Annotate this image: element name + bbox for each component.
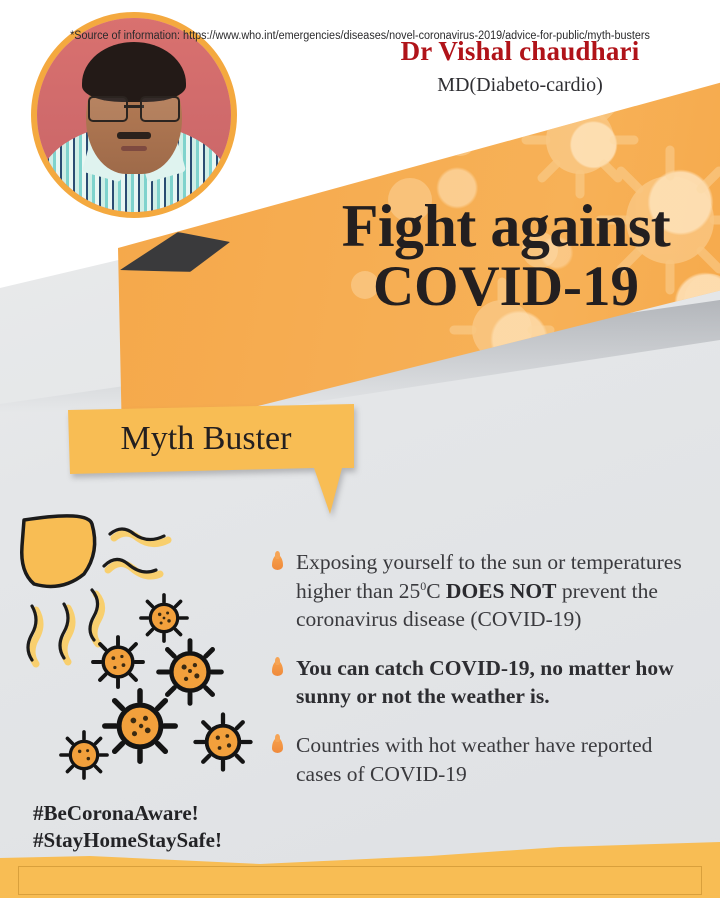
hashtag-line-1: #BeCoronaAware!	[33, 800, 222, 827]
photo-moustache	[117, 132, 151, 139]
flame-bullet-icon	[272, 738, 283, 753]
avatar	[31, 12, 237, 218]
source-attribution: *Source of information: https://www.who.…	[22, 30, 699, 42]
flame-bullet-icon	[272, 661, 283, 676]
title-line-2: COVID-19	[300, 257, 712, 317]
hashtag-line-2: #StayHomeStaySafe!	[33, 827, 222, 854]
bullet-text-1: Exposing yourself to the sun or temperat…	[296, 548, 700, 634]
flame-bullet-icon	[272, 555, 283, 570]
list-item: Exposing yourself to the sun or temperat…	[268, 548, 700, 634]
photo-mouth	[121, 146, 147, 151]
banner-label: Myth Buster	[66, 420, 346, 458]
myth-list: Exposing yourself to the sun or temperat…	[268, 548, 700, 808]
footer-border	[18, 866, 702, 895]
title-line-1: Fight against	[300, 196, 712, 257]
covid-myth-buster-poster: Dr Vishal chaudhari MD(Diabeto-cardio) F…	[0, 0, 720, 898]
page-title: Fight against COVID-19	[300, 196, 712, 317]
hashtags: #BeCoronaAware! #StayHomeStaySafe!	[33, 800, 222, 854]
list-item: You can catch COVID-19, no matter how su…	[268, 654, 700, 711]
myth-buster-banner: Myth Buster	[66, 404, 356, 516]
virus-particle	[61, 595, 251, 778]
list-item: Countries with hot weather have reported…	[268, 731, 700, 788]
sun-and-virus-illustration	[18, 512, 268, 782]
bullet-text-3: Countries with hot weather have reported…	[296, 731, 700, 788]
bullet-text-2: You can catch COVID-19, no matter how su…	[296, 654, 700, 711]
doctor-degree: MD(Diabeto-cardio)	[330, 74, 710, 97]
glasses-icon	[88, 96, 180, 120]
